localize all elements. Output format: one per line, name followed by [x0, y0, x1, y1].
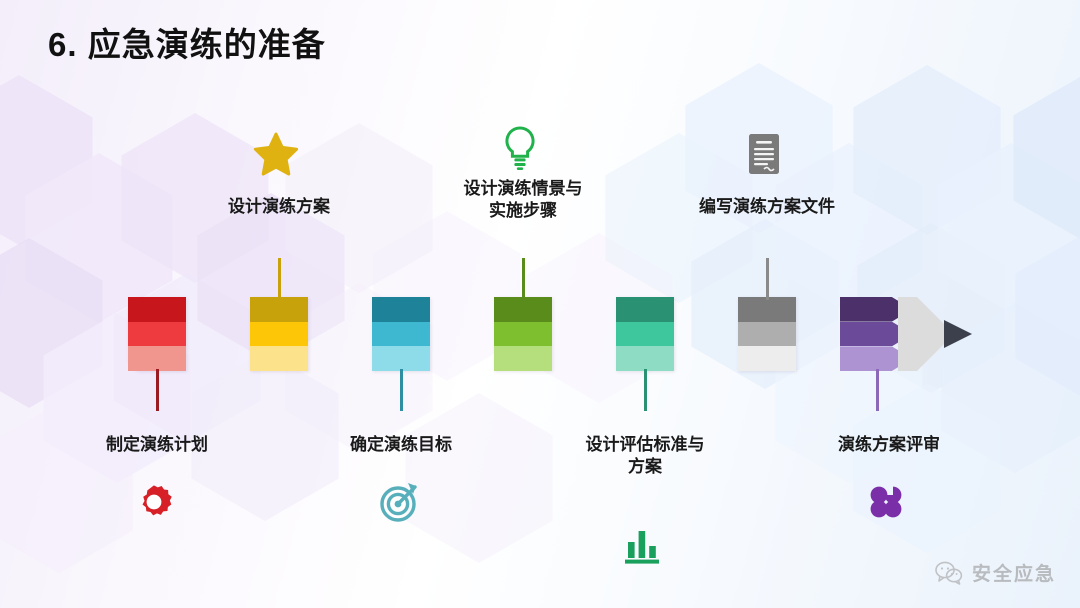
chart-step-column[interactable]: 演练方案评审 — [804, 0, 974, 608]
bar-segment — [372, 297, 430, 322]
step-icon-wrapper — [862, 478, 916, 532]
connector-line — [400, 369, 403, 411]
process-bar-chart: 制定演练计划设计演练方案确定演练目标设计演练情景与 实施步骤设计评估标准与 方案… — [0, 0, 1080, 608]
chart-bar[interactable] — [128, 297, 186, 371]
step-icon-wrapper — [374, 478, 428, 532]
step-icon-wrapper — [618, 518, 672, 572]
step-icon-wrapper — [496, 124, 550, 178]
slide-canvas: 6. 应急演练的准备 制定演练计划设计演练方案确定演练目标设计演练情景与 实施步… — [0, 0, 1080, 608]
bar-segment — [738, 322, 796, 347]
step-icon-wrapper — [252, 130, 306, 184]
connector-line — [876, 369, 879, 411]
bar-segment — [494, 346, 552, 371]
pencil-tip-bar[interactable] — [840, 297, 990, 371]
bar-segment — [250, 297, 308, 322]
wechat-logo-icon — [935, 561, 963, 585]
star-icon — [252, 130, 300, 178]
chart-bar[interactable] — [372, 297, 430, 371]
bar-segment — [616, 297, 674, 322]
target-icon — [374, 478, 422, 526]
bar-chart-icon — [618, 518, 666, 566]
chart-bar[interactable] — [738, 297, 796, 371]
bar-segment — [372, 346, 430, 371]
bar-segment — [250, 322, 308, 347]
bar-segment — [494, 297, 552, 322]
bar-segment — [494, 322, 552, 347]
chart-bar[interactable] — [616, 297, 674, 371]
connector-line — [644, 369, 647, 411]
gear-icon — [130, 478, 178, 526]
bar-segment — [128, 346, 186, 371]
clover-icon — [862, 478, 910, 526]
connector-line — [156, 369, 159, 411]
bar-segment — [616, 346, 674, 371]
pencil-lead — [944, 320, 972, 348]
document-icon — [740, 130, 788, 178]
connector-line — [522, 258, 525, 300]
step-icon-wrapper — [130, 478, 184, 532]
bar-segment — [128, 297, 186, 322]
bar-segment — [372, 322, 430, 347]
step-label: 演练方案评审 — [784, 434, 994, 456]
bar-segment — [738, 346, 796, 371]
chart-bar[interactable] — [494, 297, 552, 371]
bar-segment — [128, 322, 186, 347]
bar-segment — [250, 346, 308, 371]
bar-segment — [616, 322, 674, 347]
watermark: 安全应急 — [935, 559, 1056, 586]
lightbulb-icon — [496, 124, 544, 172]
connector-line — [278, 258, 281, 300]
chart-bar[interactable] — [250, 297, 308, 371]
bar-segment — [738, 297, 796, 322]
watermark-text: 安全应急 — [972, 559, 1056, 586]
step-icon-wrapper — [740, 130, 794, 184]
connector-line — [766, 258, 769, 300]
